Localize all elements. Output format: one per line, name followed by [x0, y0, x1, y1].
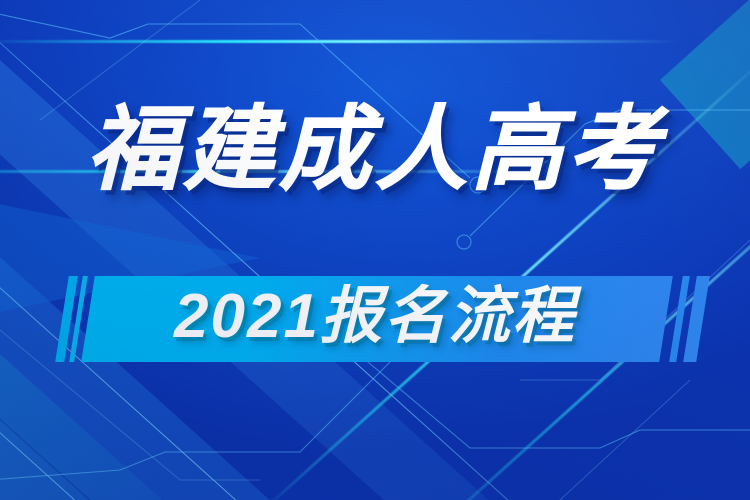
circuit-decoration: [0, 0, 750, 500]
subtitle-text: 2021报名流程: [0, 286, 750, 348]
page-title: 福建成人高考: [0, 104, 750, 196]
poster-canvas: 福建成人高考 2021报名流程: [0, 0, 750, 500]
